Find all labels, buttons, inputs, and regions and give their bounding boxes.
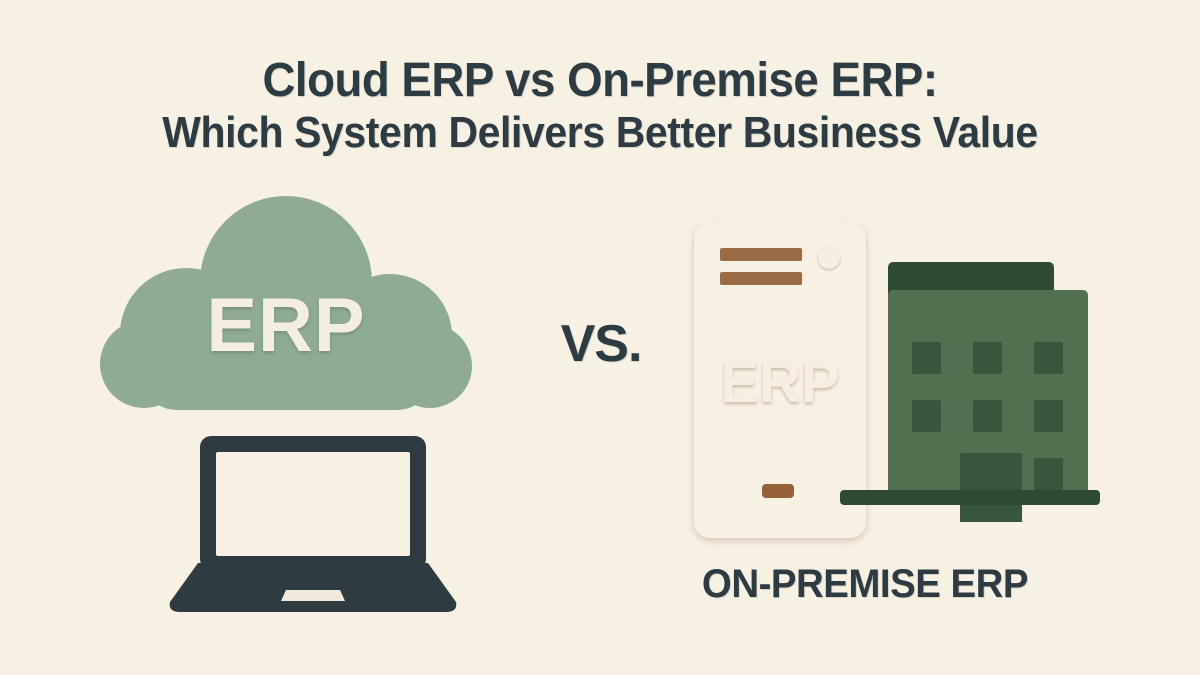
building-front-block xyxy=(888,290,1088,494)
vent-slots-icon xyxy=(720,272,802,285)
building-window xyxy=(973,342,1002,374)
server-tower-illustration: ERP xyxy=(694,222,866,538)
vent-slots-icon xyxy=(720,248,802,261)
infographic-canvas: Cloud ERP vs On-Premise ERP: Which Syste… xyxy=(0,0,1200,675)
building-window xyxy=(1034,458,1063,490)
office-building-illustration xyxy=(840,262,1100,510)
cloud-erp-label: ERP xyxy=(100,288,472,364)
on-premise-caption: ON-PREMISE ERP xyxy=(630,562,1100,607)
laptop-illustration xyxy=(168,432,458,617)
building-window xyxy=(912,342,941,374)
building-window xyxy=(1034,400,1063,432)
cloud-erp-illustration: ERP xyxy=(100,196,472,418)
title-line-primary: Cloud ERP vs On-Premise ERP: xyxy=(30,56,1170,106)
building-window xyxy=(973,400,1002,432)
building-window xyxy=(912,400,941,432)
building-door xyxy=(960,453,1022,522)
title-line-secondary: Which System Delivers Better Business Va… xyxy=(42,106,1158,160)
laptop-icon xyxy=(168,432,458,617)
status-led-icon xyxy=(818,247,840,269)
drive-slot-icon xyxy=(762,484,794,498)
building-base-strip xyxy=(840,490,1100,505)
page-title: Cloud ERP vs On-Premise ERP: Which Syste… xyxy=(0,56,1200,160)
building-window xyxy=(1034,342,1063,374)
versus-label: VS. xyxy=(531,314,671,374)
server-erp-label: ERP xyxy=(694,354,866,412)
